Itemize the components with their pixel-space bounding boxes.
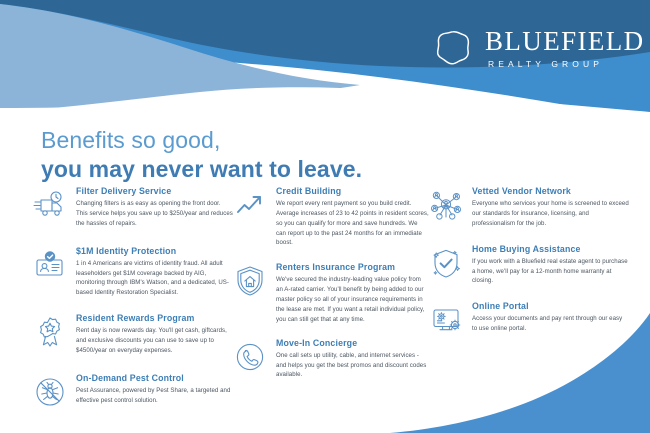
benefit-title: On-Demand Pest Control	[76, 373, 233, 384]
benefit-item: $1M Identity Protection 1 in 4 Americans…	[33, 246, 233, 298]
benefit-title: Home Buying Assistance	[472, 244, 629, 255]
benefit-title: Move-In Concierge	[276, 338, 429, 349]
benefit-body: One call sets up utility, cable, and int…	[276, 351, 429, 381]
benefit-item: Move-In Concierge One call sets up utili…	[233, 338, 429, 381]
benefits-column-1: Filter Delivery Service Changing filters…	[33, 186, 233, 423]
benefit-body: Pest Assurance, powered by Pest Share, a…	[76, 386, 233, 406]
benefit-item: Renters Insurance Program We've secured …	[233, 262, 429, 324]
benefit-body: We've secured the industry-leading value…	[276, 275, 429, 324]
benefit-title: $1M Identity Protection	[76, 246, 233, 257]
benefits-column-3: Vetted Vendor Network Everyone who servi…	[429, 186, 629, 423]
delivery-truck-clock-icon	[33, 188, 67, 222]
benefit-title: Credit Building	[276, 186, 429, 197]
benefits-columns: Filter Delivery Service Changing filters…	[33, 186, 633, 423]
benefit-title: Filter Delivery Service	[76, 186, 233, 197]
headline-line-2: you may never want to leave.	[41, 155, 362, 184]
benefit-item: Credit Building We report every rent pay…	[233, 186, 429, 248]
monitor-gears-icon	[429, 303, 463, 337]
benefit-title: Resident Rewards Program	[76, 313, 233, 324]
benefit-title: Renters Insurance Program	[276, 262, 429, 273]
award-ribbon-star-icon	[33, 315, 67, 349]
pest-control-bug-icon	[33, 375, 67, 409]
flyer-page: BLUEFIELD REALTY GROUP Benefits so good,…	[0, 0, 650, 433]
benefit-body: We report every rent payment so you buil…	[276, 199, 429, 248]
benefits-column-2: Credit Building We report every rent pay…	[233, 186, 429, 423]
id-card-check-icon	[33, 248, 67, 282]
benefit-item: On-Demand Pest Control Pest Assurance, p…	[33, 373, 233, 409]
brand-name: BLUEFIELD	[485, 28, 645, 55]
benefit-body: Changing filters is as easy as opening t…	[76, 199, 233, 229]
benefit-body: Rent day is now rewards day. You'll get …	[76, 326, 233, 356]
benefit-item: Online Portal Access your documents and …	[429, 301, 629, 337]
page-title: Benefits so good, you may never want to …	[41, 126, 362, 185]
benefit-body: If you work with a Bluefield real estate…	[472, 257, 629, 287]
trending-up-arrow-icon	[233, 188, 267, 222]
wavy-ring-icon	[432, 27, 474, 69]
people-network-icon	[429, 188, 463, 222]
headline-line-1: Benefits so good,	[41, 126, 362, 155]
shield-house-icon	[233, 264, 267, 298]
phone-circle-icon	[233, 340, 267, 374]
benefit-body: Access your documents and pay rent throu…	[472, 314, 629, 334]
brand-tagline: REALTY GROUP	[488, 60, 645, 69]
benefit-item: Resident Rewards Program Rent day is now…	[33, 313, 233, 356]
benefit-body: Everyone who services your home is scree…	[472, 199, 629, 229]
brand-logo: BLUEFIELD REALTY GROUP	[432, 27, 645, 69]
shield-check-sparkle-icon	[429, 246, 463, 280]
benefit-item: Home Buying Assistance If you work with …	[429, 244, 629, 287]
benefit-item: Filter Delivery Service Changing filters…	[33, 186, 233, 229]
benefit-body: 1 in 4 Americans are victims of identity…	[76, 259, 233, 298]
benefit-title: Vetted Vendor Network	[472, 186, 629, 197]
benefit-title: Online Portal	[472, 301, 629, 312]
benefit-item: Vetted Vendor Network Everyone who servi…	[429, 186, 629, 229]
